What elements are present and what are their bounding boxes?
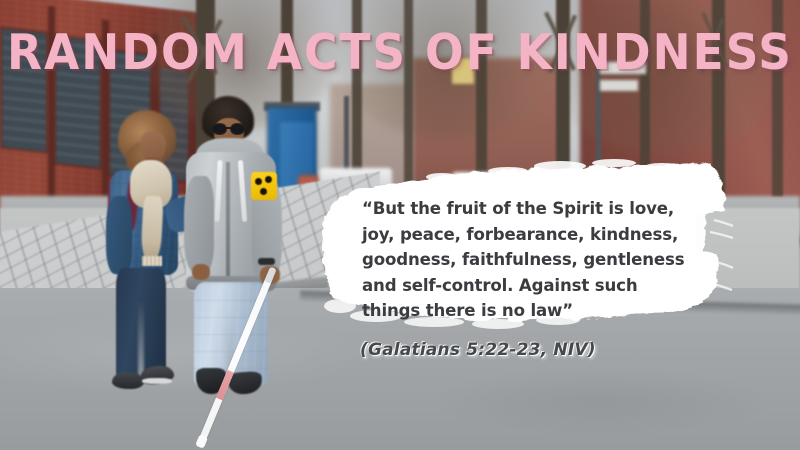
quote-graphic: RANDOM ACTS OF KINDNESS “But the fruit o…: [0, 0, 800, 450]
wristwatch: [258, 258, 275, 265]
man-left-hand: [192, 264, 210, 280]
armband-dot: [265, 176, 272, 183]
sunglasses-icon: [213, 124, 246, 134]
quote-line: and self-control. Against such: [362, 273, 702, 299]
woman-shoe-left: [112, 372, 144, 389]
hoodie-zipper: [226, 162, 230, 280]
cane-tip: [195, 434, 208, 449]
sunglasses-lens: [231, 124, 244, 134]
sunglasses-lens: [213, 124, 226, 134]
blind-armband-icon: [251, 172, 277, 200]
quote-line: joy, peace, forbearance, kindness,: [362, 222, 702, 248]
armband-dot: [260, 188, 267, 195]
sunglasses-bridge: [225, 127, 232, 129]
quote-line: goodness, faithfulness, gentleness: [362, 247, 702, 273]
armband-dot: [255, 178, 262, 185]
quote-line: “But the fruit of the Spirit is love,: [362, 196, 702, 222]
scripture-citation: (Galatians 5:22-23, NIV): [360, 340, 596, 360]
scarf-fringe: [142, 256, 162, 266]
woman-left-arm: [106, 196, 132, 274]
quote-line: things there is no law”: [362, 298, 702, 324]
quote-text: “But the fruit of the Spirit is love, jo…: [362, 196, 702, 324]
page-title: RANDOM ACTS OF KINDNESS: [0, 28, 800, 77]
man-left-arm: [184, 176, 214, 272]
woman-shoe-sole: [142, 378, 172, 384]
woman-leg-separation: [138, 300, 144, 380]
